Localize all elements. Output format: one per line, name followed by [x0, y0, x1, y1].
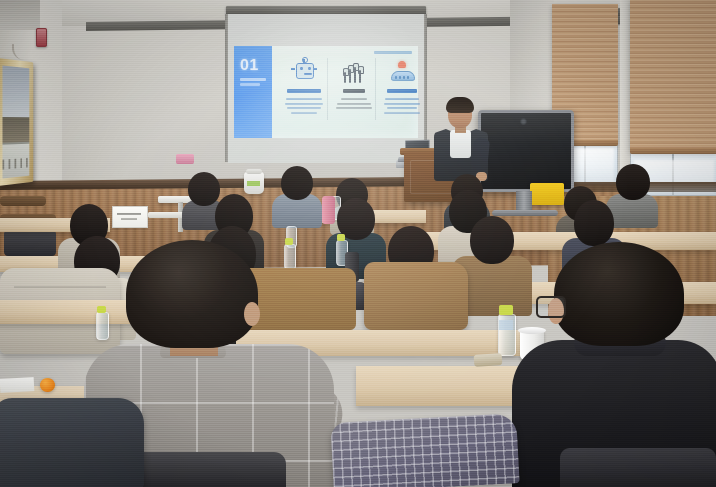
- slide-body-line: [336, 107, 372, 109]
- slide-section-number: 01: [240, 57, 259, 75]
- slide-body-line: [287, 107, 321, 109]
- slide-body-line: [337, 103, 371, 105]
- projection-screen: 01: [228, 6, 424, 164]
- slide-body-line: [341, 98, 367, 100]
- projected-slide: 01: [234, 46, 418, 138]
- slide-body-line: [285, 103, 323, 105]
- slide-column-title: [287, 89, 321, 93]
- tangerine: [40, 378, 55, 392]
- slide-body-line: [384, 112, 420, 114]
- dark-jacket-draped: [0, 398, 144, 487]
- presenter-shirt: [450, 130, 471, 158]
- pink-item-on-shelf: [176, 154, 194, 164]
- robot-icon: [291, 59, 317, 85]
- left-wall-top: [0, 0, 40, 30]
- side-chair: [4, 230, 56, 256]
- framed-landscape-picture: [0, 58, 33, 186]
- head-hair: [126, 240, 258, 348]
- slide-column-3: [380, 59, 424, 131]
- kettle-label: [247, 181, 260, 186]
- presenter: [432, 100, 490, 180]
- slide-body-line: [286, 98, 322, 100]
- screen-surface: 01: [228, 14, 424, 163]
- raised-hands-icon: [341, 59, 367, 85]
- brown-coat-on-chair: [364, 262, 468, 330]
- fire-alarm-bell: [36, 28, 47, 47]
- monitor-camera: [520, 118, 527, 125]
- slide-subtitle-rule: [240, 78, 266, 81]
- presenter-hair: [446, 97, 474, 113]
- attendee-back-2: [272, 166, 322, 226]
- snack-wrapper: [474, 353, 503, 367]
- bottle-label: [499, 320, 513, 330]
- slide-column-title: [343, 89, 365, 93]
- head-hair: [554, 242, 684, 346]
- ear: [244, 302, 260, 326]
- paper-sheet: [0, 377, 34, 393]
- side-chair: [0, 196, 46, 206]
- bottle-cap: [499, 305, 513, 315]
- slide-body-line: [384, 103, 420, 105]
- plaid-jacket-draped: [330, 413, 519, 487]
- venetian-blind[interactable]: [630, 0, 716, 152]
- slide-column-title: [387, 89, 417, 93]
- notice-text-line: [117, 213, 141, 215]
- slide-body-line: [387, 107, 417, 109]
- seminar-room-photo: 01: [0, 0, 716, 487]
- blind-bottom-rail[interactable]: [630, 148, 716, 154]
- slide-column-divider: [327, 58, 328, 120]
- slide-body-line: [385, 98, 419, 100]
- hand-heart-icon: [389, 59, 415, 85]
- slide-body-line: [291, 112, 317, 114]
- slide-column-2: [332, 59, 376, 131]
- foreground-chair-back: [560, 448, 716, 487]
- bottle-cap: [337, 234, 345, 241]
- kettle-lid: [246, 169, 262, 174]
- notice-text-line: [121, 218, 137, 220]
- slide-subtitle-rule-2: [240, 83, 260, 86]
- slide-header-rule: [374, 51, 412, 54]
- slide-column-1: [282, 59, 326, 131]
- eyeglasses: [536, 296, 566, 318]
